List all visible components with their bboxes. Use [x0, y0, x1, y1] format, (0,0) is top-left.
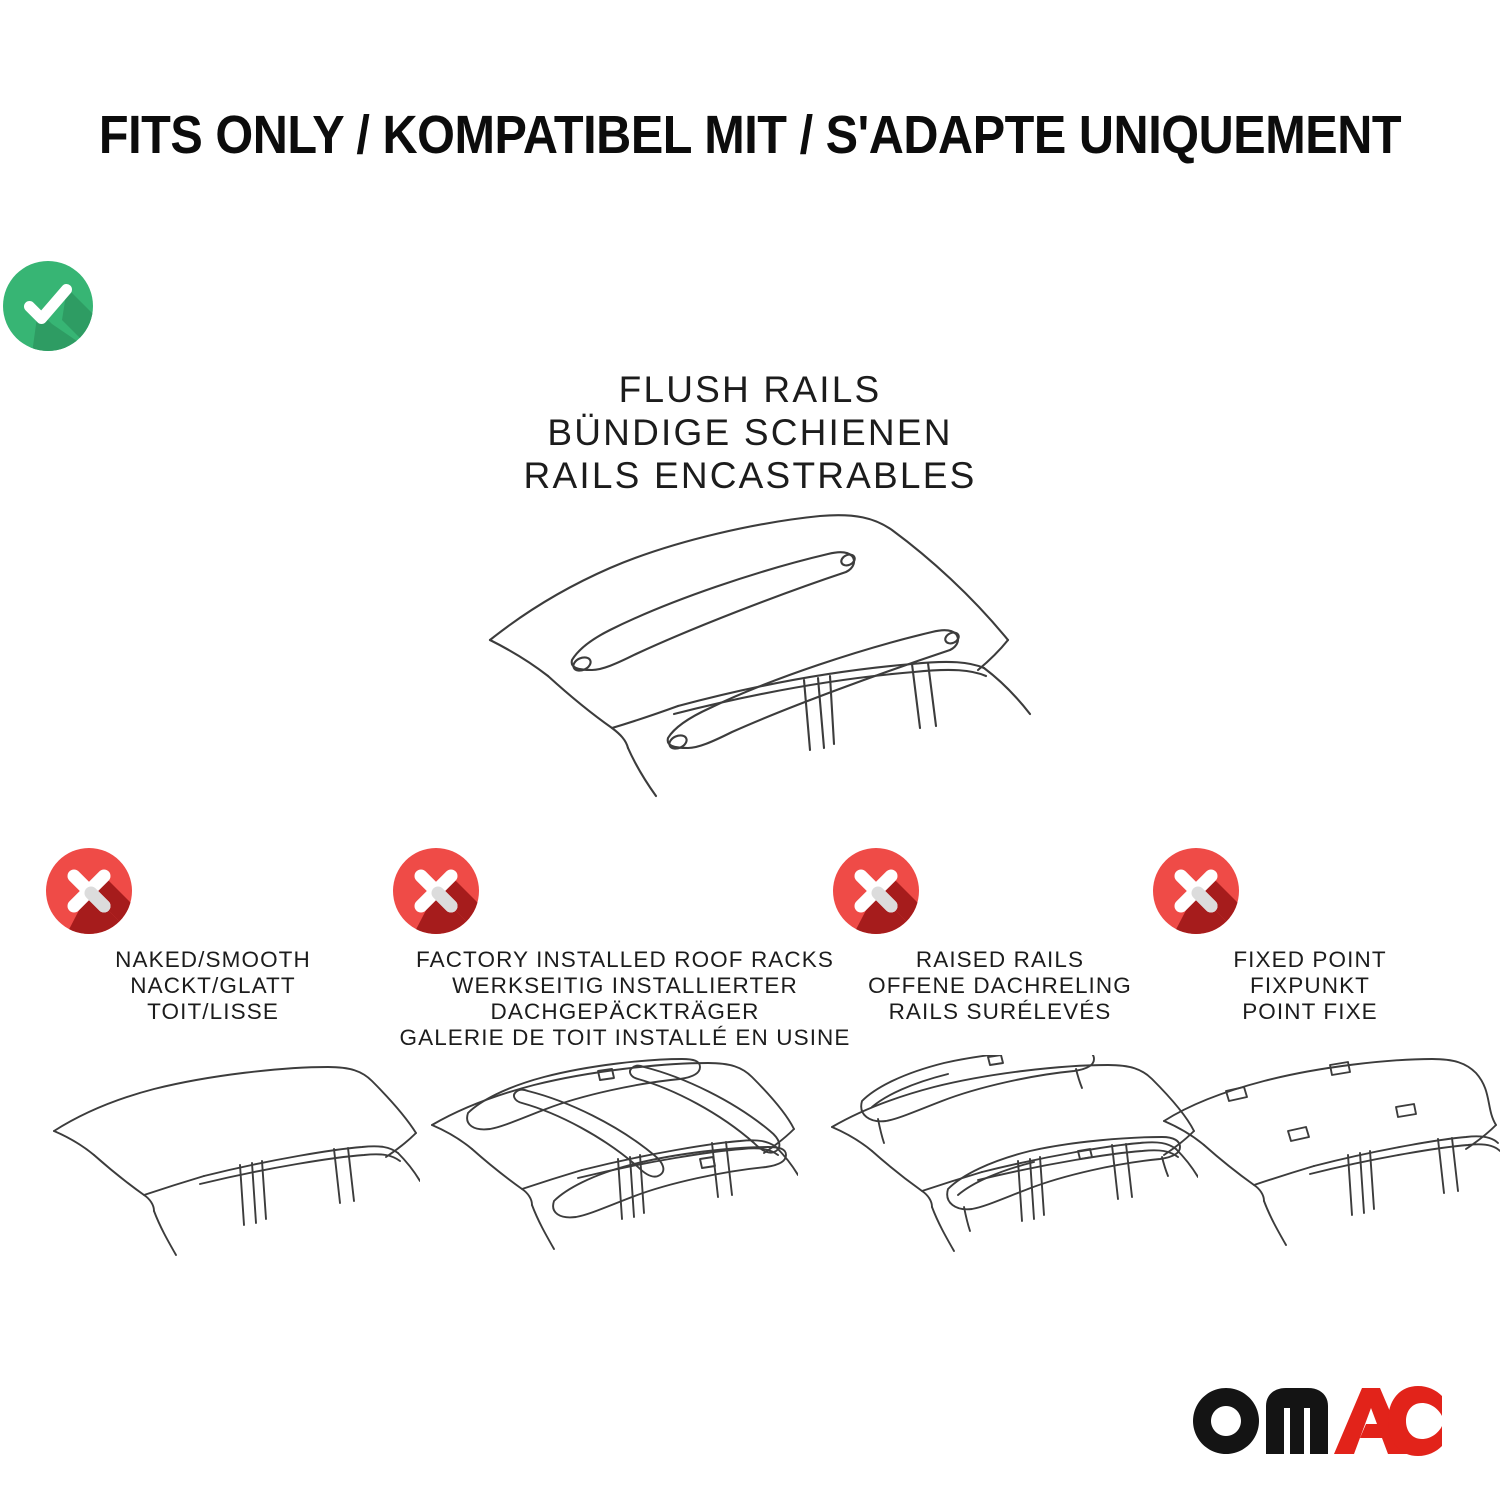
car-roof-bare-illustration [50, 1055, 420, 1295]
logo-letter-m [1266, 1388, 1328, 1454]
logo-letter-o [1193, 1388, 1259, 1454]
x-circle-icon [390, 845, 860, 937]
label-line-de-2: DACHGEPÄCKTRÄGER [390, 999, 860, 1025]
incompatible-illustrations-row [0, 1055, 1500, 1315]
check-circle-icon [0, 258, 1500, 354]
label-line-de-1: WERKSEITIG INSTALLIERTER [390, 973, 860, 999]
x-circle-icon [43, 845, 383, 937]
label-line-en: NAKED/SMOOTH [43, 947, 383, 973]
label-line-de: FIXPUNKT [1150, 973, 1470, 999]
label-line-fr: RAILS SURÉLEVÉS [830, 999, 1170, 1025]
label-line-en: RAISED RAILS [830, 947, 1170, 973]
x-circle-icon [1150, 845, 1470, 937]
incompatible-item-factory-roof-racks: FACTORY INSTALLED ROOF RACKS WERKSEITIG … [390, 845, 860, 1051]
label-line-fr: GALERIE DE TOIT INSTALLÉ EN USINE [390, 1025, 860, 1051]
infographic-page: FITS ONLY / KOMPATIBEL MIT / S'ADAPTE UN… [0, 0, 1500, 1500]
label-line-fr: POINT FIXE [1150, 999, 1470, 1025]
car-roof-with-fixed-points-illustration [1160, 1055, 1500, 1295]
car-roof-with-flush-rails-illustration [460, 500, 1040, 800]
label-line-en: FACTORY INSTALLED ROOF RACKS [390, 947, 860, 973]
compatible-label: FLUSH RAILS BÜNDIGE SCHIENEN RAILS ENCAS… [0, 368, 1500, 497]
label-line-de: OFFENE DACHRELING [830, 973, 1170, 999]
incompatible-label-naked-smooth: NAKED/SMOOTH NACKT/GLATT TOIT/LISSE [43, 947, 383, 1025]
label-line-fr: TOIT/LISSE [43, 999, 383, 1025]
compatible-line-en: FLUSH RAILS [0, 368, 1500, 411]
car-roof-with-raised-rails-illustration [828, 1055, 1198, 1295]
label-line-en: FIXED POINT [1150, 947, 1470, 973]
compatible-block: FLUSH RAILS BÜNDIGE SCHIENEN RAILS ENCAS… [0, 258, 1500, 497]
incompatible-label-factory-roof-racks: FACTORY INSTALLED ROOF RACKS WERKSEITIG … [390, 947, 860, 1051]
car-roof-with-factory-crossbars-illustration [428, 1055, 798, 1295]
incompatible-item-fixed-point: FIXED POINT FIXPUNKT POINT FIXE [1150, 845, 1470, 1025]
page-title: FITS ONLY / KOMPATIBEL MIT / S'ADAPTE UN… [75, 104, 1425, 166]
incompatible-label-fixed-point: FIXED POINT FIXPUNKT POINT FIXE [1150, 947, 1470, 1025]
label-line-de: NACKT/GLATT [43, 973, 383, 999]
x-circle-icon [830, 845, 1170, 937]
incompatible-label-raised-rails: RAISED RAILS OFFENE DACHRELING RAILS SUR… [830, 947, 1170, 1025]
incompatible-item-raised-rails: RAISED RAILS OFFENE DACHRELING RAILS SUR… [830, 845, 1170, 1025]
compatible-line-de: BÜNDIGE SCHIENEN [0, 411, 1500, 454]
incompatible-item-naked-smooth: NAKED/SMOOTH NACKT/GLATT TOIT/LISSE [43, 845, 383, 1025]
omac-logo [1192, 1384, 1442, 1458]
compatible-line-fr: RAILS ENCASTRABLES [0, 454, 1500, 497]
logo-letter-c [1388, 1386, 1442, 1456]
